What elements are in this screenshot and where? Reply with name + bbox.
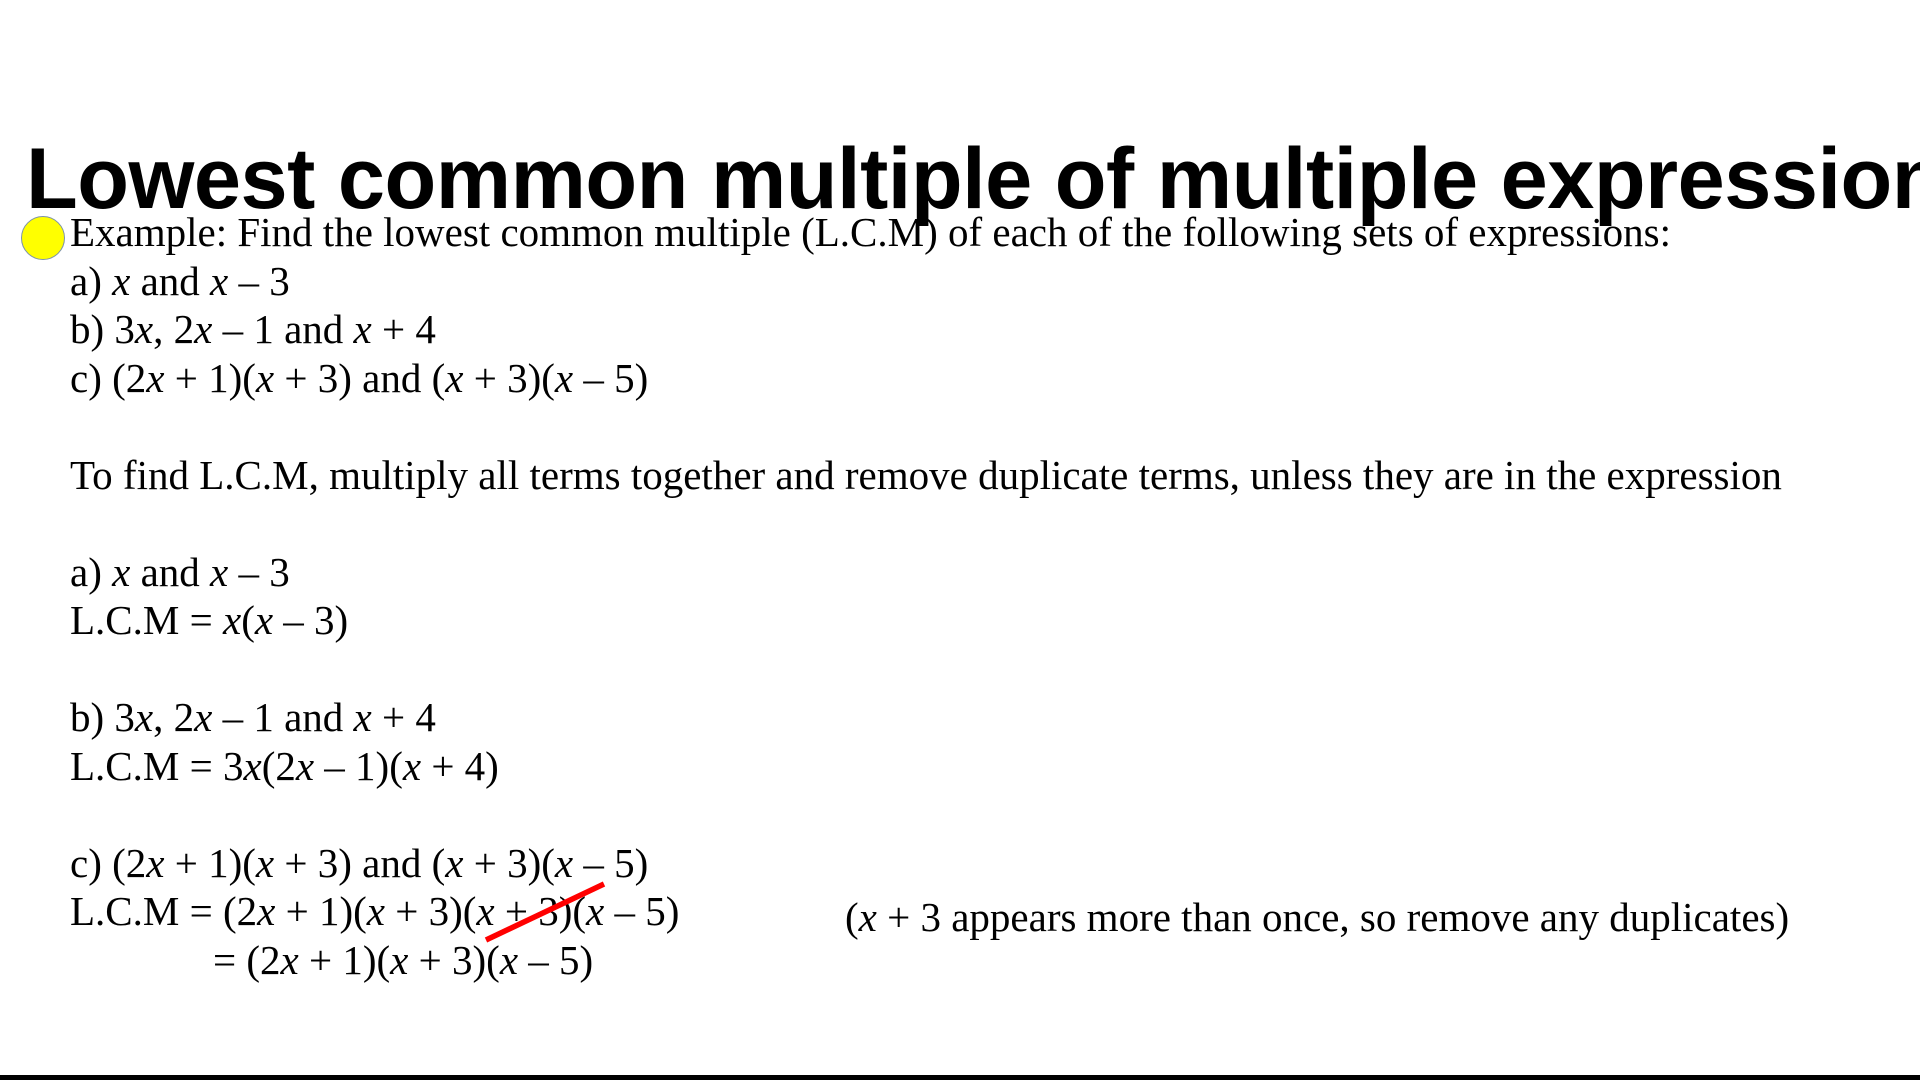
problem-b-seg3: x	[194, 306, 212, 352]
problem-b-seg0: b) 3	[70, 306, 135, 352]
sol-a-seg4: – 3	[228, 549, 290, 595]
problem-a-seg2: and	[130, 258, 210, 304]
problem-a-seg3: x	[210, 258, 228, 304]
sol-b-seg3: x	[194, 694, 212, 740]
solution-a-answer: L.C.M = x(x – 3)	[70, 596, 1910, 645]
spacer-4	[70, 790, 1910, 839]
sol-c-seg1: x	[146, 840, 164, 886]
sol-b-seg2: , 2	[153, 694, 194, 740]
sol-c-seg6: + 3)(	[463, 840, 554, 886]
problem-a-seg1: x	[112, 258, 130, 304]
slide-body: Example: Find the lowest common multiple…	[70, 208, 1910, 984]
sol-c-seg0: c) (2	[70, 840, 146, 886]
problem-b-seg5: x	[354, 306, 372, 352]
sol-c-seg5: x	[445, 840, 463, 886]
problem-c-seg7: x	[555, 355, 573, 401]
annotation-note: (x + 3 appears more than once, so remove…	[845, 893, 1789, 942]
sol-c-seg4: + 3) and (	[274, 840, 445, 886]
sol-b-seg0: b) 3	[70, 694, 135, 740]
solution-c-problem: c) (2x + 1)(x + 3) and (x + 3)(x – 5)	[70, 839, 1910, 888]
bullet-circle-icon	[21, 216, 65, 260]
solution-b-answer: L.C.M = 3x(2x – 1)(x + 4)	[70, 742, 1910, 791]
method-line: To find L.C.M, multiply all terms togeth…	[70, 451, 1910, 500]
problem-line-c: c) (2x + 1)(x + 3) and (x + 3)(x – 5)	[70, 354, 1910, 403]
problem-c-seg0: c) (2	[70, 355, 146, 401]
problem-c-seg8: – 5)	[573, 355, 648, 401]
sol-a-seg1: x	[112, 549, 130, 595]
problem-line-b: b) 3x, 2x – 1 and x + 4	[70, 305, 1910, 354]
sol-b-seg1: x	[135, 694, 153, 740]
problem-b-seg6: + 4	[372, 306, 436, 352]
problem-b-seg1: x	[135, 306, 153, 352]
problem-c-seg5: x	[445, 355, 463, 401]
intro-line: Example: Find the lowest common multiple…	[70, 208, 1910, 257]
spacer-3	[70, 645, 1910, 694]
problem-c-seg4: + 3) and (	[274, 355, 445, 401]
sol-b-seg5: x	[354, 694, 372, 740]
solution-c-answer-simplified: = (2x + 1)(x + 3)(x – 5)	[70, 936, 1910, 985]
problem-a-seg4: – 3	[228, 258, 290, 304]
sol-c-seg8: – 5)	[573, 840, 648, 886]
sol-a-seg2: and	[130, 549, 210, 595]
problem-a-seg0: a)	[70, 258, 112, 304]
sol-a-seg3: x	[210, 549, 228, 595]
problem-b-seg2: , 2	[153, 306, 194, 352]
spacer-2	[70, 499, 1910, 548]
solution-b-problem: b) 3x, 2x – 1 and x + 4	[70, 693, 1910, 742]
spacer-1	[70, 402, 1910, 451]
sol-c-seg7: x	[555, 840, 573, 886]
sol-c-seg2: + 1)(	[164, 840, 255, 886]
sol-b-seg4: – 1 and	[212, 694, 353, 740]
sol-b-seg6: + 4	[372, 694, 436, 740]
solution-a-problem: a) x and x – 3	[70, 548, 1910, 597]
problem-c-seg2: + 1)(	[164, 355, 255, 401]
problem-c-seg6: + 3)(	[463, 355, 554, 401]
sol-c-seg3: x	[256, 840, 274, 886]
problem-line-a: a) x and x – 3	[70, 257, 1910, 306]
problem-b-seg4: – 1 and	[212, 306, 353, 352]
problem-c-seg1: x	[146, 355, 164, 401]
slide-canvas: Lowest common multiple of multiple expre…	[0, 0, 1920, 1080]
sol-a-seg0: a)	[70, 549, 112, 595]
problem-c-seg3: x	[256, 355, 274, 401]
